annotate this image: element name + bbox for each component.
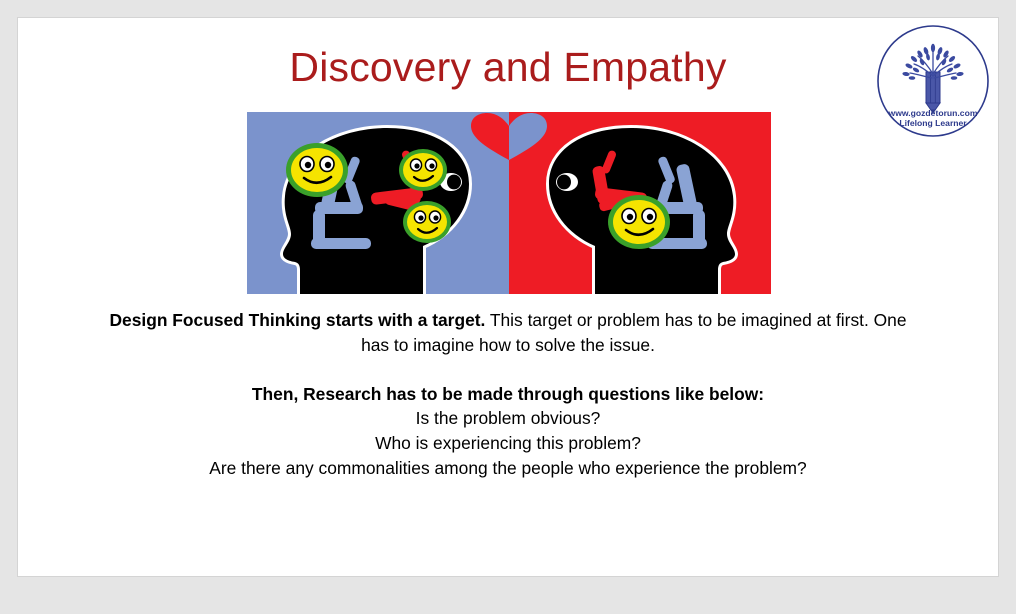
research-question-1: Is the problem obvious? bbox=[108, 406, 908, 431]
paragraph-one-bold-lead: Design Focused Thinking starts with a ta… bbox=[109, 310, 485, 330]
logo-badge[interactable]: www.gozdetorun.com Lifelong Learner bbox=[876, 24, 990, 138]
paragraph-spacer bbox=[108, 357, 908, 382]
logo-website-text: www.gozdetorun.com bbox=[888, 108, 978, 118]
page-title: Discovery and Empathy bbox=[18, 45, 998, 90]
paragraph-one: Design Focused Thinking starts with a ta… bbox=[108, 308, 908, 357]
left-head-smiley-large bbox=[286, 143, 348, 197]
right-head-smiley-large bbox=[608, 195, 670, 249]
body-text-block: Design Focused Thinking starts with a ta… bbox=[108, 308, 908, 480]
left-head-smiley-small bbox=[399, 149, 447, 191]
two-heads-empathy-illustration bbox=[247, 112, 771, 294]
research-question-2: Who is experiencing this problem? bbox=[108, 431, 908, 456]
paragraph-two-heading: Then, Research has to be made through qu… bbox=[108, 382, 908, 407]
right-head-smiley-small bbox=[403, 201, 451, 243]
research-question-3: Are there any commonalities among the pe… bbox=[108, 456, 908, 481]
slide-canvas: Discovery and Empathy bbox=[18, 18, 998, 576]
right-head-eye bbox=[556, 173, 578, 191]
logo-tagline-text: Lifelong Learner bbox=[899, 118, 967, 128]
